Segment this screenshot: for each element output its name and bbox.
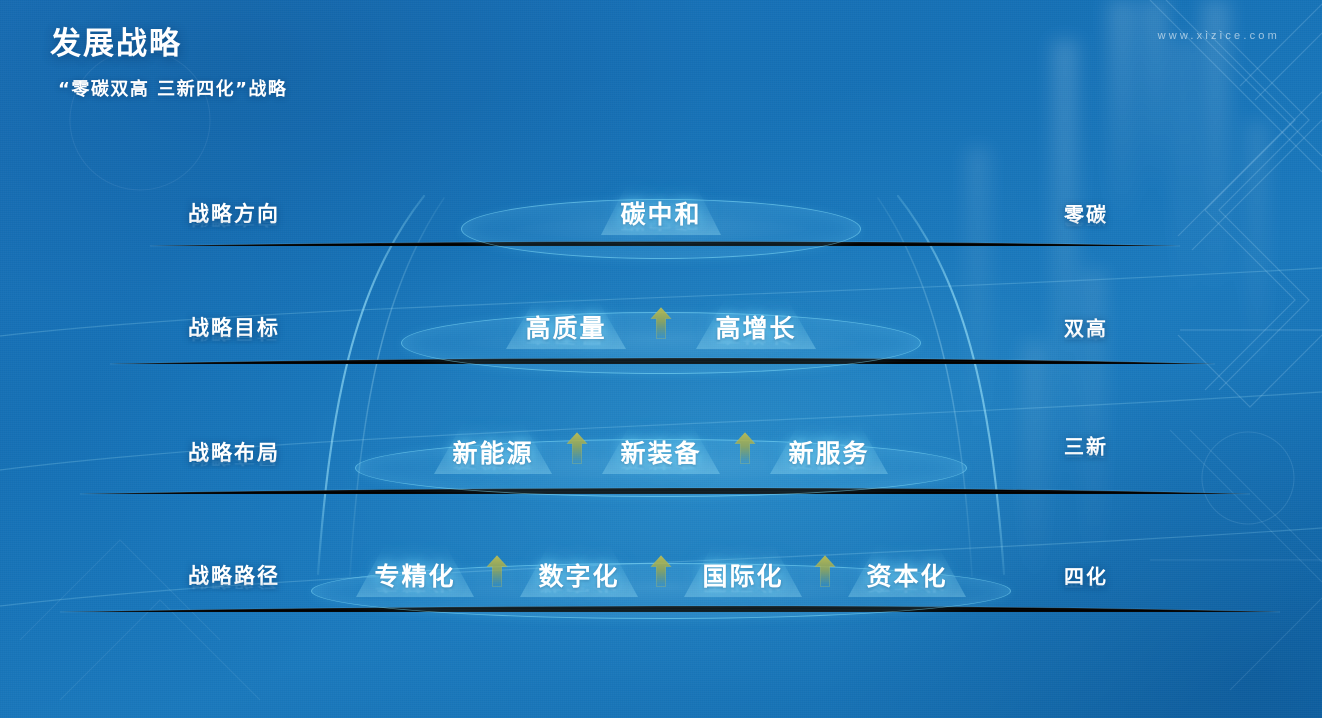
up-arrow-connector xyxy=(650,307,672,344)
strategy-item[interactable]: 国际化 国际化 xyxy=(702,557,783,593)
up-arrow-icon xyxy=(486,555,508,588)
strategy-item-text: 数字化 xyxy=(538,562,619,591)
up-arrow-icon xyxy=(650,555,672,588)
page-title: 发展战略 xyxy=(50,18,287,63)
row-label-text: 战略布局 xyxy=(188,441,280,465)
up-arrow-icon xyxy=(566,432,588,465)
row-label-text: 战略路径 xyxy=(188,564,280,588)
up-arrow-icon xyxy=(650,307,672,340)
strategy-item-text: 新装备 xyxy=(620,439,701,468)
strategy-item[interactable]: 新装备 新装备 xyxy=(620,434,701,470)
strategy-item[interactable]: 新服务 新服务 xyxy=(788,434,869,470)
strategy-item-text: 新能源 xyxy=(452,439,533,468)
row-tag-1: 零碳 零碳 xyxy=(1064,199,1108,228)
row-tag-text: 四化 xyxy=(1064,565,1108,589)
row-label-4: 战略路径 战略路径 xyxy=(188,560,280,590)
row-label-2: 战略目标 战略目标 xyxy=(188,312,280,342)
row-tag-text: 零碳 xyxy=(1064,203,1108,227)
strategy-item-text: 碳中和 xyxy=(620,200,701,229)
row-label-3: 战略布局 战略布局 xyxy=(188,437,280,467)
strategy-item-text: 高增长 xyxy=(715,314,796,343)
strategy-item[interactable]: 资本化 资本化 xyxy=(866,557,947,593)
row-label-1: 战略方向 战略方向 xyxy=(188,198,280,228)
up-arrow-connector xyxy=(814,555,836,592)
row-tag-3: 三新 三新 xyxy=(1064,431,1108,460)
row-tag-4: 四化 四化 xyxy=(1064,561,1108,590)
header: 发展战略 “零碳双高 三新四化”战略 xyxy=(50,18,287,101)
strategy-item[interactable]: 碳中和 碳中和 xyxy=(620,195,701,231)
row-label-text: 战略目标 xyxy=(188,316,280,340)
up-arrow-connector xyxy=(650,555,672,592)
strategy-item-text: 新服务 xyxy=(788,439,869,468)
strategy-item[interactable]: 数字化 数字化 xyxy=(538,557,619,593)
strategy-item-text: 资本化 xyxy=(866,562,947,591)
strategy-item[interactable]: 高质量 高质量 xyxy=(525,309,606,345)
up-arrow-icon xyxy=(734,432,756,465)
strategy-item[interactable]: 专精化 专精化 xyxy=(374,557,455,593)
up-arrow-icon xyxy=(814,555,836,588)
row-tag-2: 双高 双高 xyxy=(1064,313,1108,342)
up-arrow-connector xyxy=(486,555,508,592)
strategy-item[interactable]: 新能源 新能源 xyxy=(452,434,533,470)
row-tag-text: 三新 xyxy=(1064,435,1108,459)
up-arrow-connector xyxy=(734,432,756,469)
slide-canvas: 发展战略 “零碳双高 三新四化”战略 www.xizice.com 战略方向 战… xyxy=(0,0,1322,718)
page-subtitle: “零碳双高 三新四化”战略 xyxy=(58,75,287,101)
strategy-item-text: 高质量 xyxy=(525,314,606,343)
row-label-text: 战略方向 xyxy=(188,202,280,226)
up-arrow-connector xyxy=(566,432,588,469)
watermark: www.xizice.com xyxy=(1158,30,1280,42)
strategy-item-text: 专精化 xyxy=(374,562,455,591)
strategy-item-text: 国际化 xyxy=(702,562,783,591)
row-tag-text: 双高 xyxy=(1064,317,1108,341)
strategy-item[interactable]: 高增长 高增长 xyxy=(715,309,796,345)
